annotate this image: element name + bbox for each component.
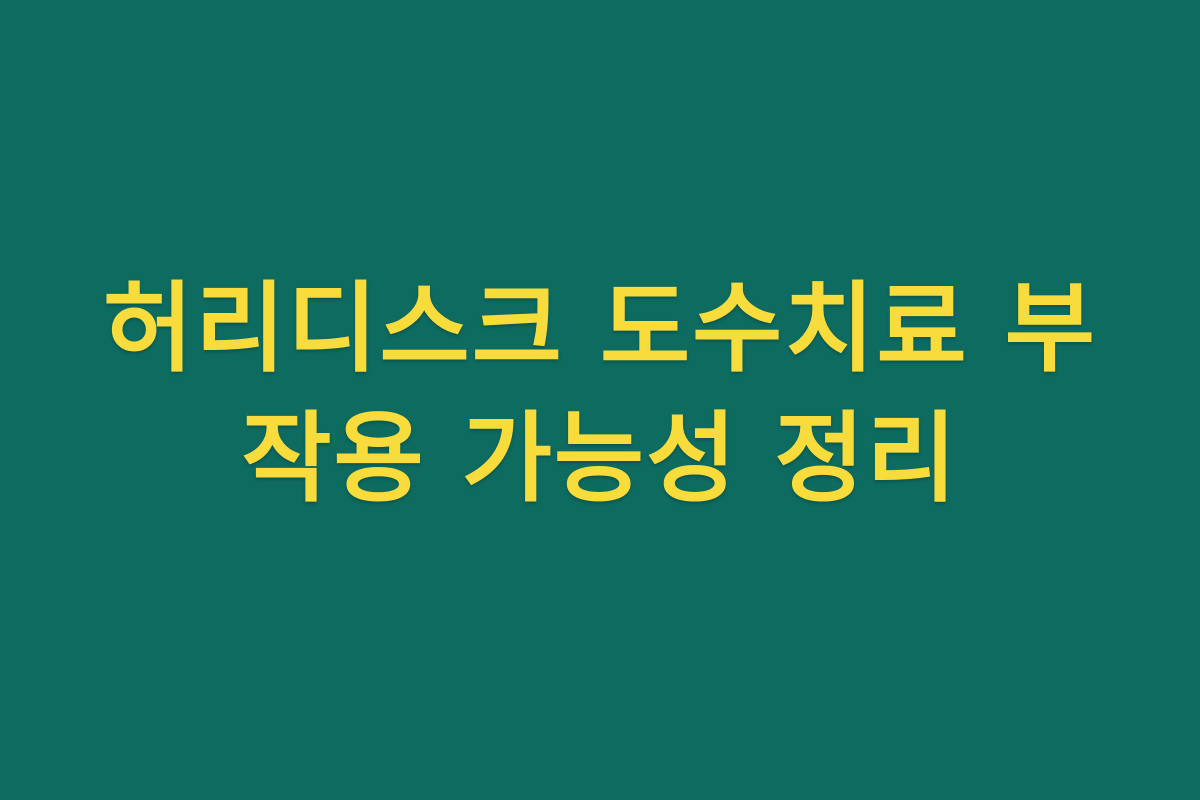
title-line-1: 허리디스크 도수치료 부 <box>60 264 1140 394</box>
title-line-2: 작용 가능성 정리 <box>60 394 1140 524</box>
title-block: 허리디스크 도수치료 부 작용 가능성 정리 <box>60 264 1140 536</box>
title-card-canvas: 허리디스크 도수치료 부 작용 가능성 정리 <box>0 0 1200 800</box>
